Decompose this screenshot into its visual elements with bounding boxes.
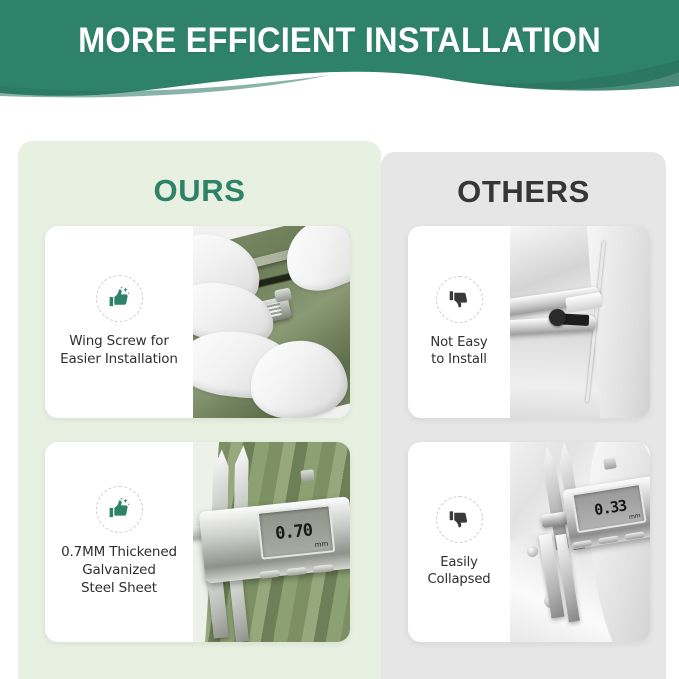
thumbs-up-sparkle-icon <box>96 486 143 533</box>
caliper-button <box>623 531 644 540</box>
thumbs-down-icon <box>436 496 483 543</box>
thumbs-up-sparkle-icon <box>96 275 143 322</box>
photo-others-pliers <box>510 226 650 418</box>
caliper-button <box>572 540 593 549</box>
caliper-lcd-display: 0.70 mm <box>257 504 335 559</box>
card-text-block: Easily Collapsed <box>408 442 510 642</box>
caliper-thumb-screw <box>603 457 617 470</box>
photo-ours-wing-screw <box>193 226 350 418</box>
caliper-reading-unit: mm <box>629 512 642 523</box>
page-title: MORE EFFICIENT INSTALLATION <box>24 21 655 61</box>
card-text-block: Not Easy to Install <box>408 226 510 418</box>
heading-ours: OURS <box>18 173 381 209</box>
photo-others-caliper: 0.33 mm <box>510 442 650 642</box>
card-label-others-2: Easily Collapsed <box>427 554 490 589</box>
photo-ours-caliper: 0.70 mm <box>193 442 350 642</box>
caliper-reading-value: 0.70 <box>274 522 313 543</box>
card-text-block: Wing Screw for Easier Installation <box>45 226 193 418</box>
card-ours-wing-screw: Wing Screw for Easier Installation <box>45 226 350 418</box>
card-label-ours-2: 0.7MM Thickened Galvanized Steel Sheet <box>61 544 177 597</box>
caliper-button <box>259 569 281 578</box>
card-label-ours-1: Wing Screw for Easier Installation <box>60 333 178 369</box>
card-others-not-easy-install: Not Easy to Install <box>408 226 650 418</box>
caliper-button <box>313 564 335 573</box>
caliper-thumb-screw <box>301 469 315 481</box>
card-text-block: 0.7MM Thickened Galvanized Steel Sheet <box>45 442 193 642</box>
caliper-button <box>286 566 308 575</box>
caliper-button <box>598 535 619 544</box>
thumbs-down-icon <box>436 276 483 323</box>
card-label-others-1: Not Easy to Install <box>430 334 487 369</box>
card-ours-thickened-steel: 0.7MM Thickened Galvanized Steel Sheet 0… <box>45 442 350 642</box>
comparison-infographic: MORE EFFICIENT INSTALLATION OURS OTHERS … <box>0 0 679 679</box>
panel-bolt <box>527 546 538 557</box>
card-others-easily-collapsed: Easily Collapsed 0.33 mm <box>408 442 650 642</box>
caliper-reading-unit: mm <box>314 540 329 552</box>
caliper-reading-value: 0.33 <box>594 498 628 518</box>
plier-pivot <box>549 309 566 326</box>
heading-others: OTHERS <box>381 174 666 210</box>
header-banner: MORE EFFICIENT INSTALLATION <box>0 0 679 100</box>
